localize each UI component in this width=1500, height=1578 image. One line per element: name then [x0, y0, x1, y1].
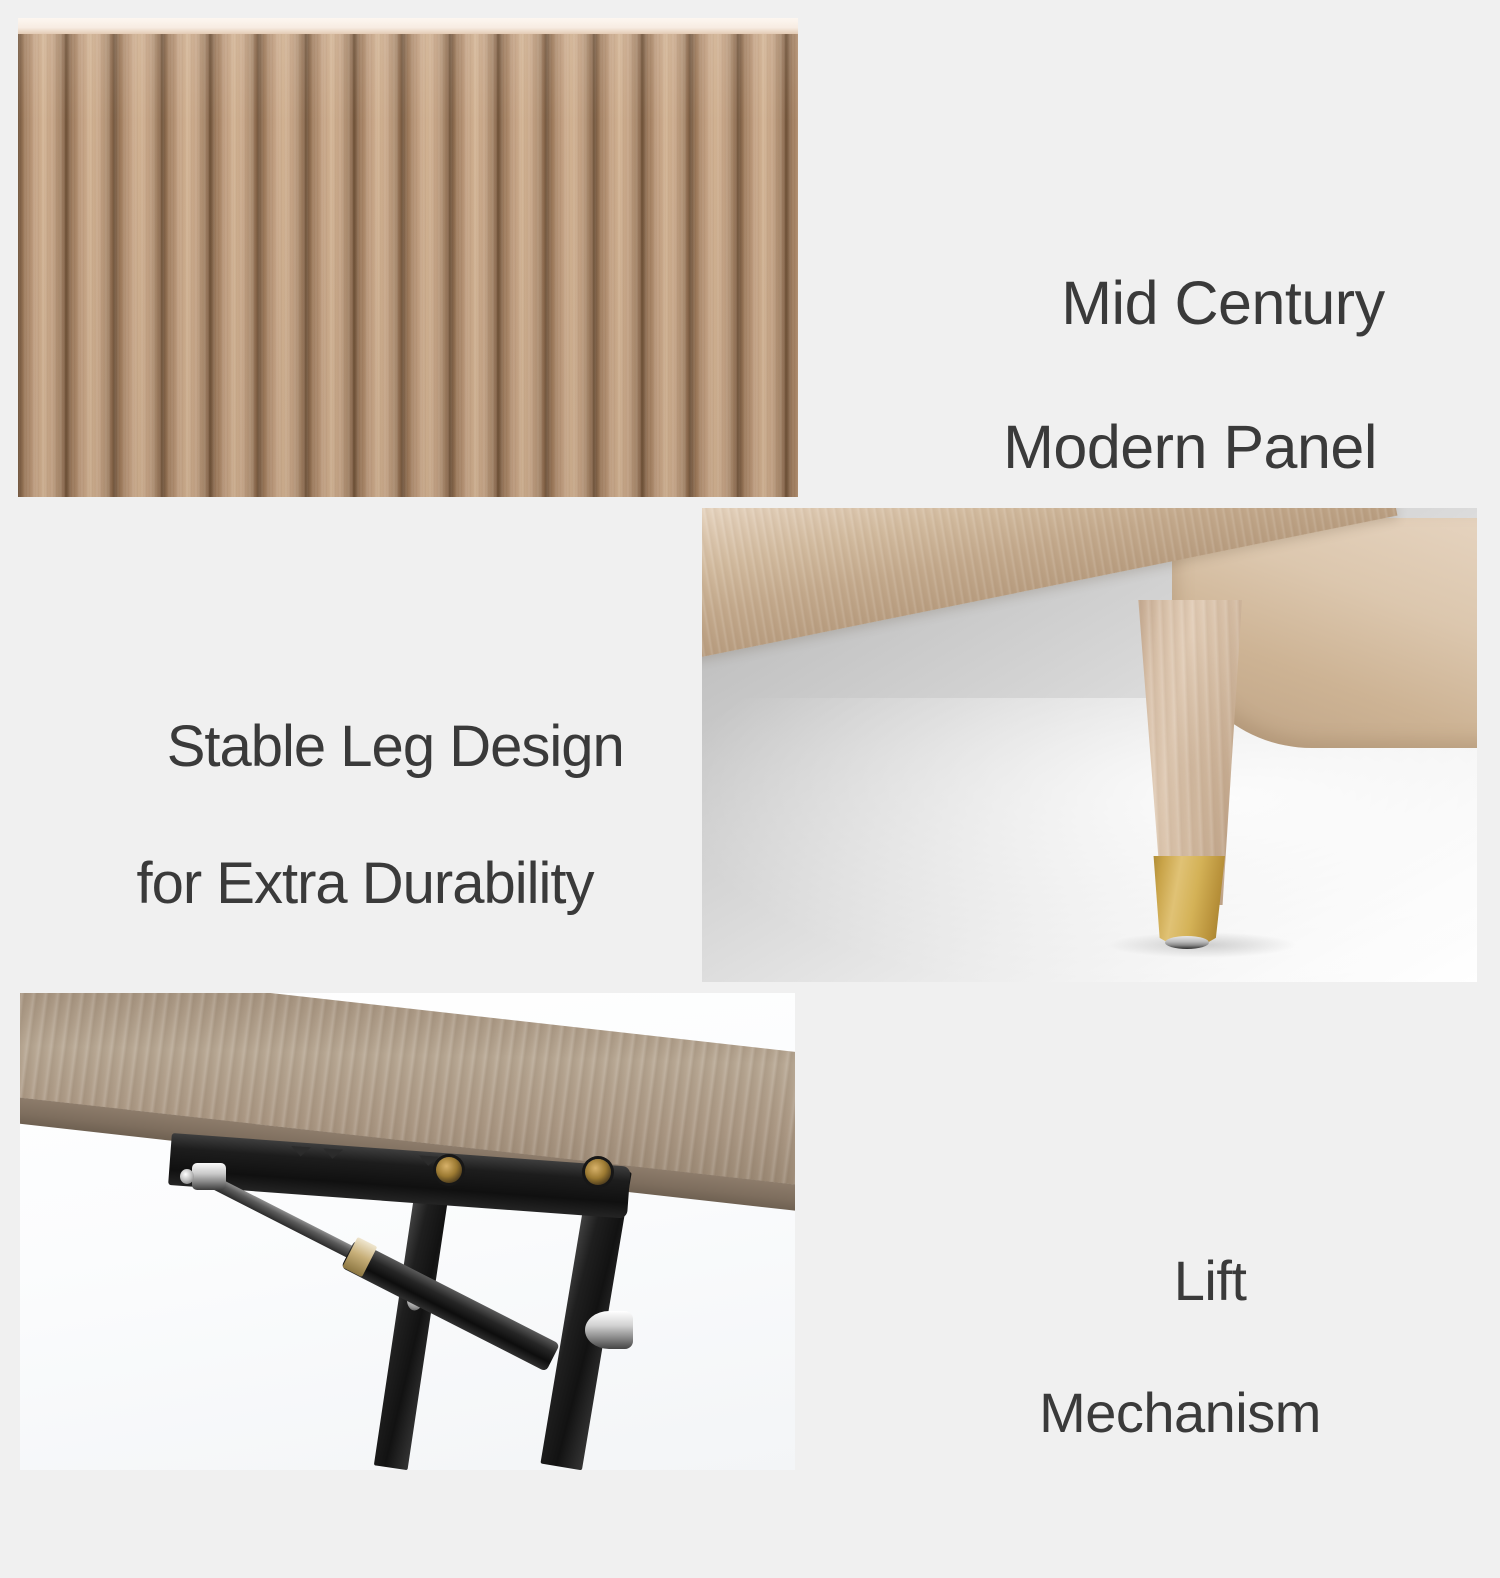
- infographic-canvas: Mid Century Modern Panel Stable Leg Desi…: [0, 0, 1500, 1500]
- photo-lift-mechanism: [20, 993, 795, 1470]
- bracket-notch: [291, 1146, 312, 1157]
- photo-fluted-panel: [18, 18, 798, 497]
- brass-bolt-left: [436, 1157, 462, 1183]
- heading-lift-mechanism: Lift Mechanism: [940, 1182, 1420, 1578]
- bracket-notch: [322, 1148, 343, 1159]
- heading-line-2: for Extra Durability: [45, 850, 685, 918]
- strut-chrome-fitting-right: [585, 1311, 633, 1349]
- panel-top-trim: [18, 18, 798, 34]
- brass-bolt-right: [585, 1159, 611, 1185]
- panel-vignette: [18, 18, 798, 497]
- heading-line-1: Lift: [1174, 1249, 1247, 1312]
- strut-pivot-nub: [180, 1169, 194, 1184]
- chrome-foot-glide: [1165, 936, 1209, 949]
- strut-chrome-fitting-left: [192, 1163, 226, 1190]
- gas-strut-cylinder: [341, 1240, 560, 1372]
- heading-line-2: Mechanism: [940, 1380, 1420, 1446]
- gold-leg-cap: [1149, 856, 1225, 944]
- heading-line-1: Mid Century: [1061, 269, 1384, 337]
- photo-table-leg: [702, 508, 1477, 982]
- lift-support-arm-left: [374, 1168, 452, 1470]
- heading-line-1: Stable Leg Design: [167, 714, 624, 779]
- heading-line-2: Modern Panel: [930, 412, 1450, 484]
